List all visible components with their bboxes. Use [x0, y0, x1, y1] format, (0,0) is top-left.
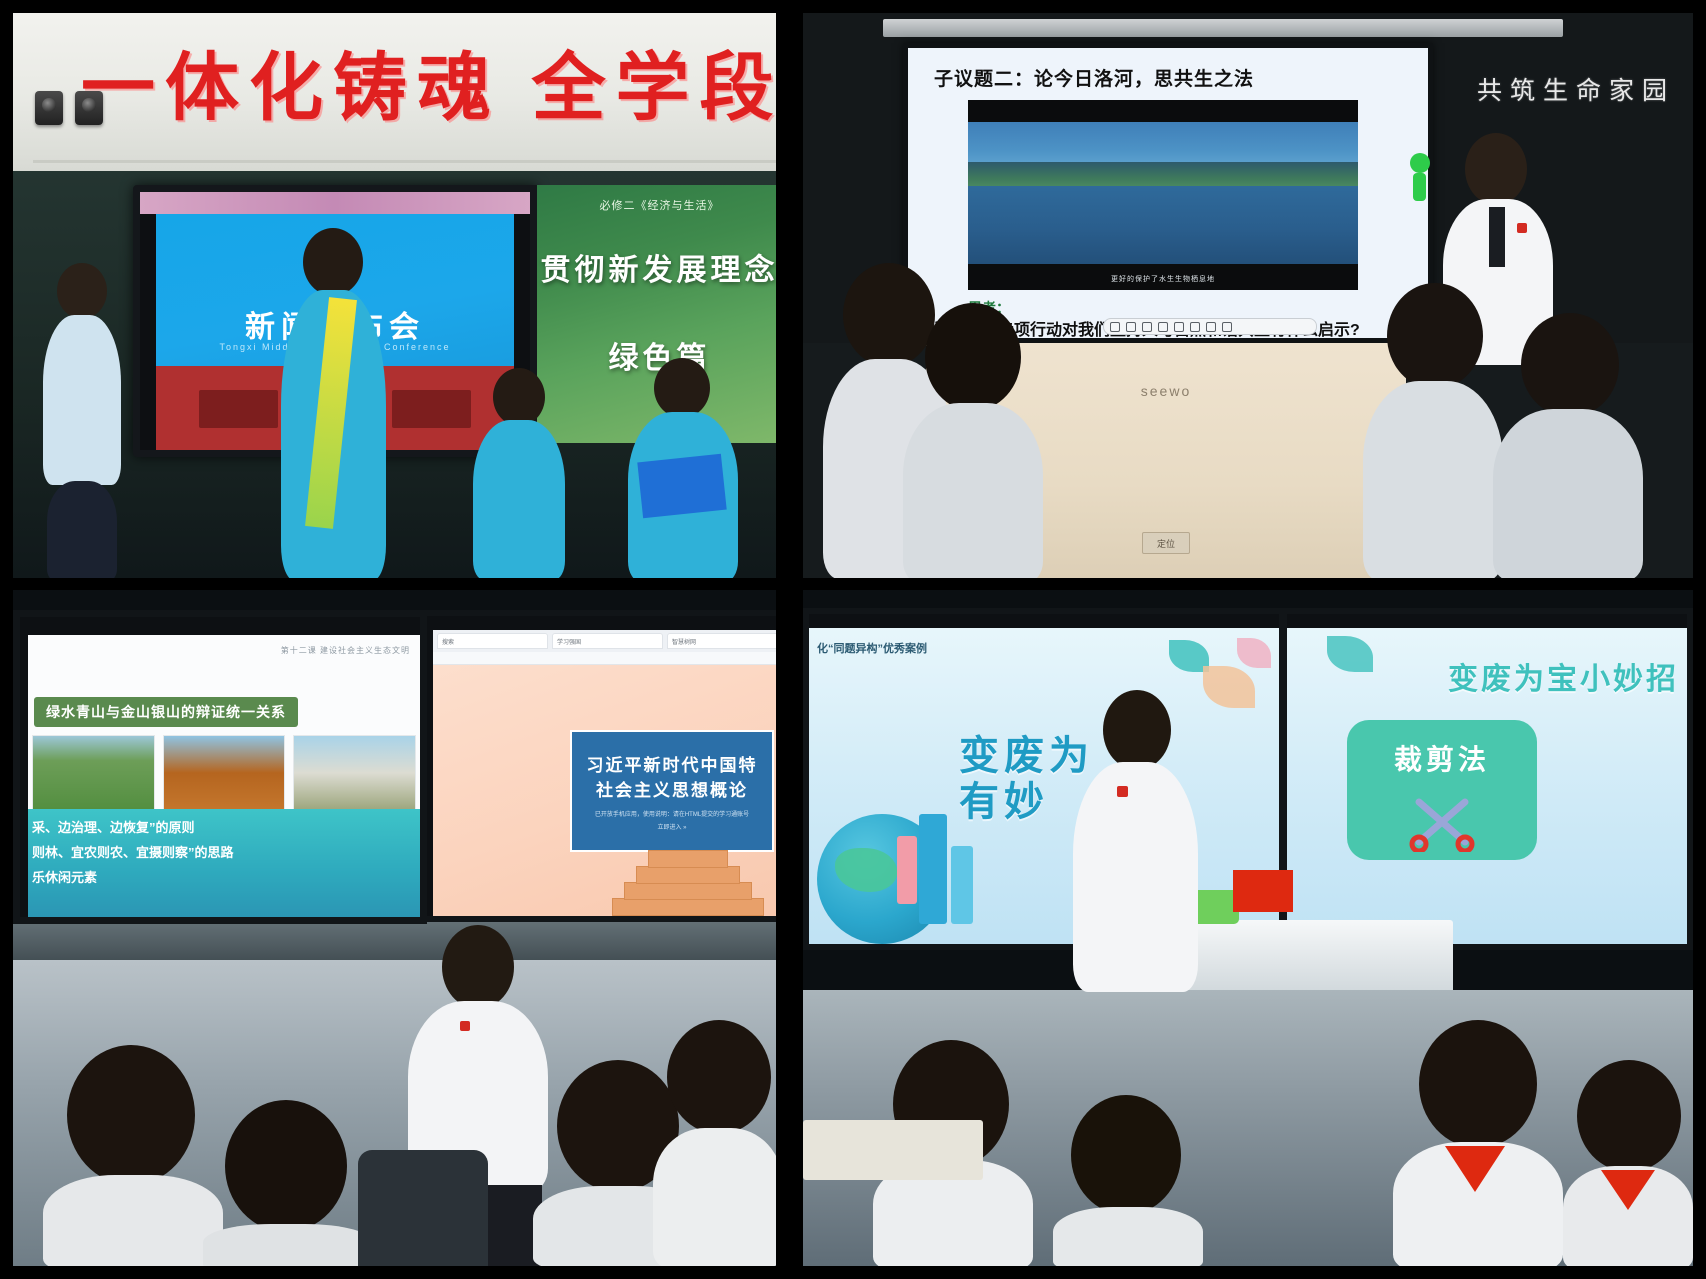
- student-head: [1387, 283, 1483, 389]
- student-shirt: [43, 1175, 223, 1266]
- student-head: [667, 1020, 771, 1134]
- photo-middle-school-lesson: 共筑生命家园 子议题二：论今日洛河，思共生之法 更好的保护了水生生物栖息地 思考…: [803, 13, 1693, 578]
- step-bar: [636, 866, 740, 884]
- building-illustration: [951, 846, 973, 924]
- student-shirt: [653, 1128, 776, 1266]
- audience-head: [43, 1045, 223, 1266]
- step-bar: [648, 850, 728, 868]
- lecturer-head: [442, 925, 514, 1009]
- cursor-tool-icon[interactable]: [1110, 322, 1120, 332]
- slide-header: 化“同题异构”优秀案例: [817, 640, 927, 656]
- student-figure: [43, 263, 121, 578]
- photo-collage: 一体化铸魂 全学段 洛 新闻发布会 Tongxi Middle School N…: [0, 0, 1706, 1279]
- student-shirt: [203, 1224, 373, 1266]
- chevron-down-icon[interactable]: [1222, 322, 1232, 332]
- embedded-video: 更好的保护了水生生物栖息地: [968, 100, 1358, 290]
- party-emblem-badge: [460, 1021, 470, 1031]
- slide-title: 变废为宝小妙招: [1448, 654, 1679, 698]
- browser-window: 搜索 学习强国 智慧树网 习近平新时代中国特 社会主义思想概论 已开放手机应用，…: [433, 630, 776, 916]
- student-uniform: [473, 420, 565, 578]
- student-figure-seated: [473, 368, 565, 578]
- course-title-line2: 社会主义思想概论: [596, 776, 748, 801]
- locate-button[interactable]: 定位: [1142, 532, 1190, 554]
- leaf-decoration: [1327, 636, 1373, 672]
- student-head: [493, 368, 545, 426]
- scissors-icon: [1407, 792, 1477, 852]
- slide-note-line: 采、边治理、边恢复”的原则: [32, 817, 416, 836]
- step-bar: [612, 898, 764, 916]
- card-photo: [164, 736, 285, 818]
- party-emblem-badge: [1517, 223, 1527, 233]
- pupil-desk: [803, 1120, 983, 1180]
- student-uniform: [903, 403, 1043, 578]
- left-screen: 第十二课 建设社会主义生态文明 绿水青山与金山银山的辩证统一关系 农业种植 教育…: [13, 610, 427, 924]
- audience-head: [653, 1020, 776, 1266]
- pupil-figure: [1563, 1060, 1693, 1266]
- green-figure-body: [1413, 173, 1426, 201]
- panel-bottom-left: 第十二课 建设社会主义生态文明 绿水青山与金山银山的辩证统一关系 农业种植 教育…: [0, 590, 790, 1279]
- browser-tab[interactable]: 学习强国: [552, 633, 663, 649]
- teacher-head: [1465, 133, 1527, 205]
- slide-note-line: 则林、宜农则农、宜摄则察”的思路: [32, 842, 416, 861]
- student-trousers: [47, 481, 117, 578]
- student-shirt: [43, 315, 121, 485]
- green-slide-line1: 贯彻新发展理念: [537, 245, 776, 289]
- slide-notes-band: 采、边治理、边恢复”的原则 则林、宜农则农、宜摄则察”的思路 乐休闲元素: [28, 809, 420, 917]
- blackboard-chalk-text: 共筑生命家园: [1477, 71, 1675, 107]
- slide-band-title: 绿水青山与金山银山的辩证统一关系: [34, 697, 298, 727]
- student-head: [57, 263, 107, 319]
- pupil-head: [1419, 1020, 1537, 1148]
- video-water: [968, 186, 1358, 264]
- pen-tool-icon[interactable]: [1126, 322, 1136, 332]
- panel-top-left: 一体化铸魂 全学段 洛 新闻发布会 Tongxi Middle School N…: [0, 0, 790, 590]
- browser-address-bar[interactable]: [433, 652, 776, 665]
- green-figure-sticker: [1403, 153, 1437, 217]
- course-enter-link[interactable]: 立即进入 »: [657, 822, 686, 831]
- student-head: [925, 303, 1021, 411]
- undo-tool-icon[interactable]: [1174, 322, 1184, 332]
- leaf-decoration: [1237, 638, 1271, 668]
- photo-college-lesson: 第十二课 建设社会主义生态文明 绿水青山与金山银山的辩证统一关系 农业种植 教育…: [13, 590, 776, 1266]
- green-slide-subtitle: 必修二《经济与生活》: [537, 197, 776, 213]
- whiteboard-rail: [883, 19, 1563, 37]
- pupil-figure: [1053, 1095, 1203, 1266]
- student-back-head: [1363, 283, 1503, 578]
- panel-bottom-right: 化“同题异构”优秀案例 变废为 有妙 变废为宝小妙招: [790, 590, 1706, 1279]
- teacher-necktie: [1489, 207, 1505, 267]
- panel-top-right: 共筑生命家园 子议题二：论今日洛河，思共生之法 更好的保护了水生生物栖息地 思考…: [790, 0, 1706, 590]
- photo-high-school-lesson: 一体化铸魂 全学段 洛 新闻发布会 Tongxi Middle School N…: [13, 13, 776, 578]
- slide-header: 第十二课 建设社会主义生态文明: [281, 645, 410, 656]
- projection-slide: 子议题二：论今日洛河，思共生之法 更好的保护了水生生物栖息地 思考： 洛阳市的专…: [903, 43, 1433, 343]
- eraser-tool-icon[interactable]: [1142, 322, 1152, 332]
- party-emblem-badge: [1117, 786, 1128, 797]
- course-title-line1: 习近平新时代中国特: [587, 751, 758, 776]
- right-screen: 搜索 学习强国 智慧树网 习近平新时代中国特 社会主义思想概论 已开放手机应用，…: [421, 610, 776, 922]
- pupil-head: [1577, 1060, 1681, 1172]
- layout-tool-icon[interactable]: [1206, 322, 1216, 332]
- student-figure-reading: [628, 358, 738, 578]
- student-head: [225, 1100, 347, 1232]
- pupil-head: [1071, 1095, 1181, 1215]
- shape-tool-icon[interactable]: [1190, 322, 1200, 332]
- zoom-tool-icon[interactable]: [1158, 322, 1168, 332]
- whiteboard-toolbar[interactable]: [1103, 318, 1317, 335]
- student-head: [654, 358, 710, 418]
- teacher-figure: [1073, 690, 1198, 990]
- pupil-shirt: [1053, 1207, 1203, 1266]
- student-head: [67, 1045, 195, 1185]
- student-back-head: [1493, 313, 1643, 578]
- audience-chair: [358, 1150, 488, 1266]
- green-figure-head: [1410, 153, 1430, 173]
- right-screen: 变废为宝小妙招 裁剪法: [1281, 608, 1693, 950]
- building-illustration: [919, 814, 947, 924]
- card-photo: [33, 736, 154, 818]
- browser-tab[interactable]: 搜索: [437, 633, 548, 649]
- photo-primary-school-lesson: 化“同题异构”优秀案例 变废为 有妙 变废为宝小妙招: [803, 590, 1693, 1266]
- browser-tab-bar[interactable]: 搜索 学习强国 智慧树网: [433, 630, 776, 652]
- video-caption: 更好的保护了水生生物栖息地: [968, 274, 1358, 284]
- browser-tab[interactable]: 智慧树网: [667, 633, 776, 649]
- slide-note-line: 乐休闲元素: [32, 867, 416, 886]
- audience-head: [203, 1100, 373, 1266]
- building-illustration: [897, 836, 917, 904]
- method-chip-label: 裁剪法: [1347, 738, 1537, 778]
- steps-illustration: [612, 846, 762, 916]
- slide-title: 子议题二：论今日洛河，思共生之法: [934, 64, 1254, 91]
- student-uniform: [1493, 409, 1643, 578]
- student-uniform: [1363, 381, 1503, 578]
- ecology-slide: 第十二课 建设社会主义生态文明 绿水青山与金山银山的辩证统一关系 农业种植 教育…: [28, 635, 420, 917]
- screen-top-frame: [140, 192, 530, 214]
- wall-banner-text: 一体化铸魂 全学段: [81, 51, 776, 125]
- method-slide: 变废为宝小妙招 裁剪法: [1287, 628, 1687, 944]
- step-bar: [624, 882, 752, 900]
- wall-banner-strip: 一体化铸魂 全学段: [13, 13, 776, 171]
- teacher-head: [1103, 690, 1171, 770]
- card-photo: [294, 736, 415, 818]
- student-head: [303, 228, 363, 296]
- course-subtitle: 已开放手机应用，使用说明：请在HTML提交的学习通账号: [595, 809, 749, 818]
- teacher-blouse: [1073, 762, 1198, 992]
- student-head: [1521, 313, 1619, 417]
- pupil-figure: [1393, 1020, 1563, 1266]
- open-book: [637, 454, 726, 518]
- china-flag-prop: [1233, 870, 1293, 912]
- speaker-icon: [35, 91, 63, 125]
- student-back-head: [903, 303, 1043, 578]
- course-cover-card: 习近平新时代中国特 社会主义思想概论 已开放手机应用，使用说明：请在HTML提交…: [570, 730, 774, 852]
- leaf-decoration: [1203, 666, 1255, 708]
- student-figure-presenting: [281, 228, 386, 578]
- method-chip: 裁剪法: [1347, 720, 1537, 860]
